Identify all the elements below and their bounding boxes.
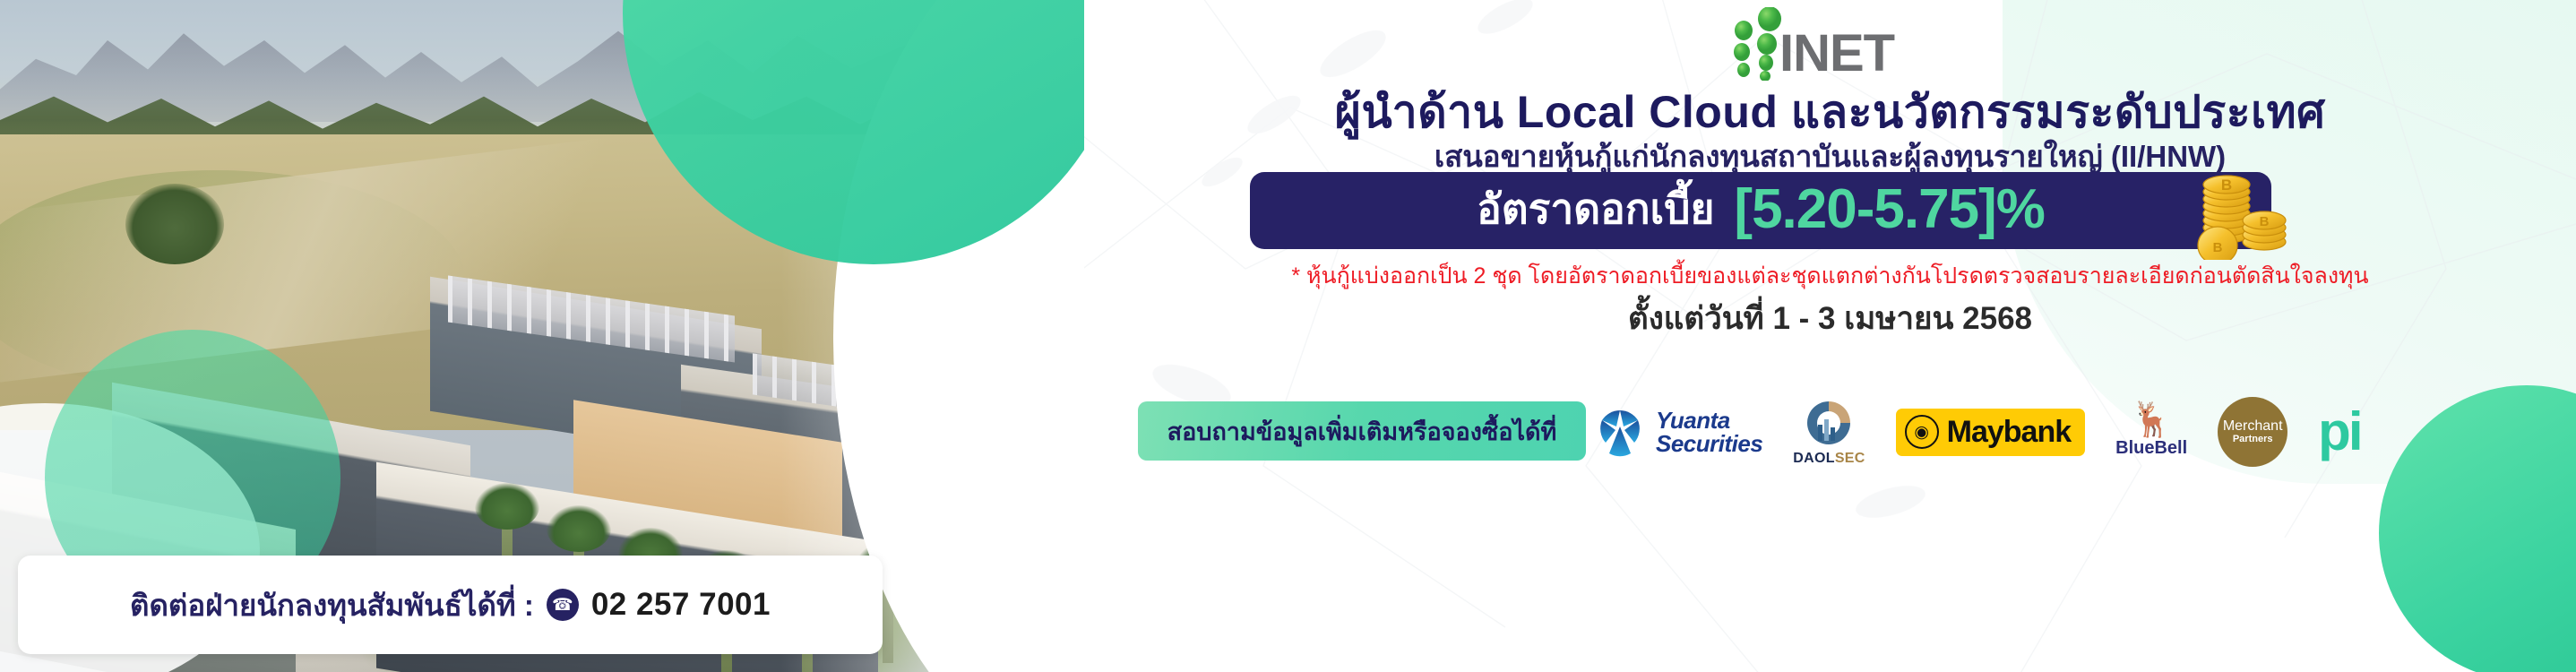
inet-wordmark: INET — [1779, 23, 1894, 83]
yuanta-star-icon — [1595, 407, 1645, 457]
partner-maybank[interactable]: ◉ Maybank — [1896, 409, 2086, 456]
partner-pi[interactable]: pi — [2318, 410, 2360, 453]
partner-daol[interactable]: DAOLSEC — [1793, 398, 1865, 467]
maybank-wordmark: Maybank — [1947, 415, 2072, 450]
svg-text:B: B — [2260, 214, 2270, 229]
partner-logos: Yuanta Securities DAOLSEC ◉ — [1595, 387, 2545, 477]
contact-phone-number[interactable]: 02 257 7001 — [591, 587, 771, 623]
contact-label: ติดต่อฝ่ายนักลงทุนสัมพันธ์ได้ที่ : — [130, 582, 534, 629]
interest-rate-badge: อัตราดอกเบี้ย [5.20-5.75]% — [1250, 172, 2271, 249]
pi-wordmark-icon: pi — [2318, 410, 2360, 453]
subscribe-cta-button[interactable]: สอบถามข้อมูลเพิ่มเติมหรือจองซื้อได้ที่ — [1138, 401, 1586, 461]
maybank-tiger-icon: ◉ — [1905, 415, 1939, 449]
investor-relations-contact-card: ติดต่อฝ่ายนักลงทุนสัมพันธ์ได้ที่ : ☎ 02 … — [18, 556, 883, 654]
footnote-text: * หุ้นกู้แบ่งออกเป็น 2 ชุด โดยอัตราดอกเบ… — [1084, 258, 2576, 294]
partner-bluebell[interactable]: 🦌 BlueBell — [2115, 405, 2187, 458]
content-panel: INET ผู้นำด้าน Local Cloud และนวัตกรรมระ… — [1084, 0, 2576, 672]
svg-text:B: B — [2213, 240, 2223, 255]
bluebell-deer-icon: 🦌 — [2130, 405, 2172, 435]
interest-rate-value: [5.20-5.75]% — [1734, 177, 2044, 241]
svg-text:B: B — [2221, 177, 2232, 194]
bluebell-wordmark: BlueBell — [2115, 438, 2187, 459]
gold-coins-icon: B B B — [2191, 152, 2298, 260]
merchant-circle-icon: Merchant Partners — [2218, 397, 2287, 467]
phone-icon: ☎ — [547, 589, 579, 621]
interest-rate-label: อัตราดอกเบี้ย — [1477, 177, 1714, 242]
offering-dateline: ตั้งแต่วันที่ 1 - 3 เมษายน 2568 — [1084, 294, 2576, 343]
partner-yuanta[interactable]: Yuanta Securities — [1595, 407, 1762, 457]
promo-banner: INET ผู้นำด้าน Local Cloud และนวัตกรรมระ… — [0, 0, 2576, 672]
daol-wordmark: DAOLSEC — [1793, 451, 1865, 467]
daol-pie-icon — [1804, 398, 1854, 448]
inet-logo: INET — [1720, 7, 2007, 81]
yuanta-wordmark: Yuanta Securities — [1656, 409, 1762, 455]
partner-merchant[interactable]: Merchant Partners — [2218, 397, 2287, 467]
